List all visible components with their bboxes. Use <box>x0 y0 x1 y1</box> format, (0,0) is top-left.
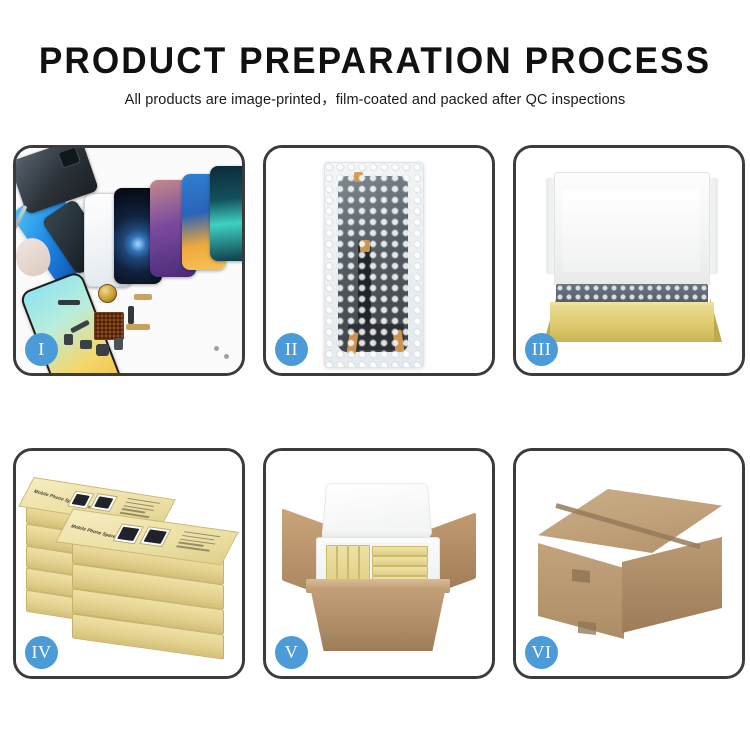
gold-flex-strip-part <box>126 324 150 330</box>
copper-grid-board-part <box>94 312 124 340</box>
spare-part-gold-flex <box>134 294 152 300</box>
step-badge-5: V <box>275 636 308 669</box>
box-spec-lines <box>175 531 220 554</box>
phone-display-teal <box>210 166 245 261</box>
connector-part <box>64 334 73 345</box>
vibration-coil-part <box>98 284 117 303</box>
step-badge-6: VI <box>525 636 558 669</box>
header: PRODUCT PREPARATION PROCESS All products… <box>0 38 750 110</box>
product-preparation-infographic: PRODUCT PREPARATION PROCESS All products… <box>0 0 750 750</box>
carton-tab <box>578 621 596 635</box>
packed-retail-box <box>372 546 428 556</box>
step-badge-4: IV <box>25 636 58 669</box>
step-badge-3: III <box>525 333 558 366</box>
screw-part <box>224 354 229 359</box>
kraft-box-front <box>550 308 714 342</box>
page-title: PRODUCT PREPARATION PROCESS <box>19 38 732 84</box>
spare-part-bracket <box>128 306 134 324</box>
page-subtitle: All products are image-printed，film-coat… <box>0 90 750 110</box>
step-panel-6: VI <box>513 448 745 679</box>
foam-inner-surface <box>562 190 700 272</box>
screw-part <box>214 346 219 351</box>
packed-retail-box <box>372 556 428 566</box>
step-badge-1: I <box>25 333 58 366</box>
step-panel-3: III <box>513 145 745 376</box>
carton-body <box>310 587 446 651</box>
bubble-wrap-overlay <box>324 162 422 366</box>
step-badge-2: II <box>275 333 308 366</box>
carton-right-face <box>622 537 722 633</box>
step-panel-5: V <box>263 448 495 679</box>
step-panel-2: II <box>263 145 495 376</box>
box-window-preview <box>139 526 171 547</box>
carton-tab <box>572 569 590 583</box>
camera-part <box>114 338 123 350</box>
box-window-preview <box>90 493 118 512</box>
step-panel-4: Mobile Phone Spare Parts Mobile <box>13 448 245 679</box>
packed-retail-box <box>372 566 428 576</box>
speaker-part <box>96 344 109 356</box>
process-steps-grid: I II <box>13 145 741 679</box>
step-panel-1: I <box>13 145 245 376</box>
small-module-part <box>80 340 92 349</box>
spare-part-strip <box>58 300 80 305</box>
